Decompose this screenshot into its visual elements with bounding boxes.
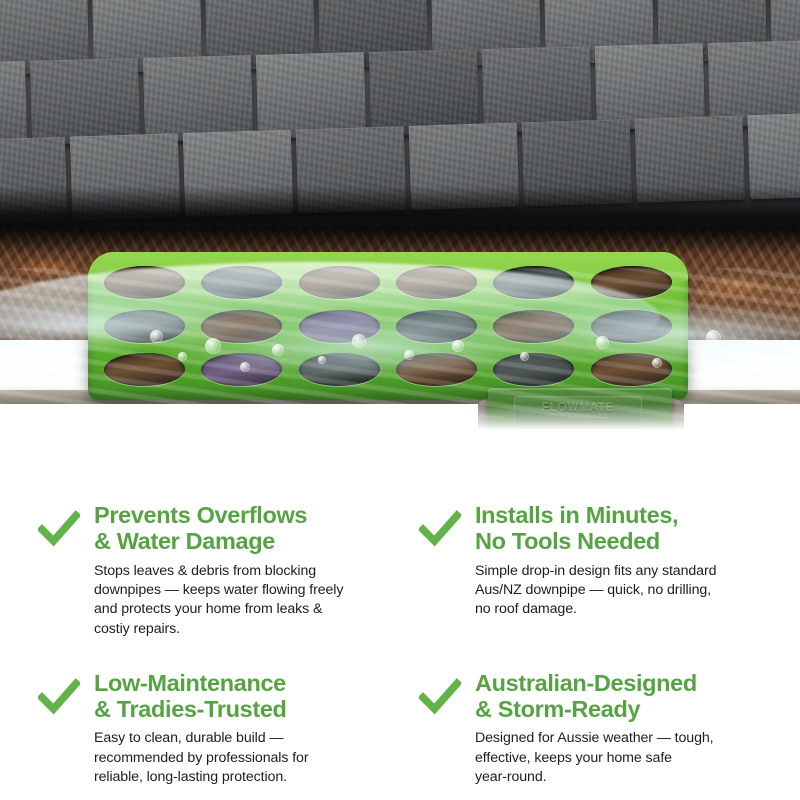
product-feature-page: FLOWMATE GUTTER GUARD	[0, 0, 800, 800]
feature-text: Australian-Designed & Storm-Ready Design…	[475, 670, 776, 788]
feature-text: Low-Maintenance & Tradies-Trusted Easy t…	[94, 670, 395, 788]
feature-item: Installs in Minutes, No Tools Needed Sim…	[405, 502, 776, 652]
image-bottom-fade-right	[684, 404, 800, 480]
feature-description: Easy to clean, durable build — recommend…	[94, 729, 395, 787]
feature-description: Simple drop-in design fits any standard …	[475, 562, 776, 620]
hero-product-image: FLOWMATE GUTTER GUARD	[0, 0, 800, 480]
feature-title: Low-Maintenance & Tradies-Trusted	[94, 670, 395, 723]
feature-title: Installs in Minutes, No Tools Needed	[475, 502, 776, 555]
feature-text: Installs in Minutes, No Tools Needed Sim…	[475, 502, 776, 620]
feature-description: Stops leaves & debris from blocking down…	[94, 562, 395, 639]
check-icon	[38, 508, 80, 550]
check-icon	[38, 676, 80, 718]
feature-item: Prevents Overflows & Water Damage Stops …	[24, 502, 395, 652]
feature-item: Australian-Designed & Storm-Ready Design…	[405, 670, 776, 800]
feature-grid: Prevents Overflows & Water Damage Stops …	[0, 480, 800, 800]
image-bottom-fade-left	[0, 404, 478, 480]
feature-title: Prevents Overflows & Water Damage	[94, 502, 395, 555]
feature-text: Prevents Overflows & Water Damage Stops …	[94, 502, 395, 639]
feature-title: Australian-Designed & Storm-Ready	[475, 670, 776, 723]
feature-description: Designed for Aussie weather — tough, eff…	[475, 729, 776, 787]
check-icon	[419, 508, 461, 550]
check-icon	[419, 676, 461, 718]
feature-item: Low-Maintenance & Tradies-Trusted Easy t…	[24, 670, 395, 800]
